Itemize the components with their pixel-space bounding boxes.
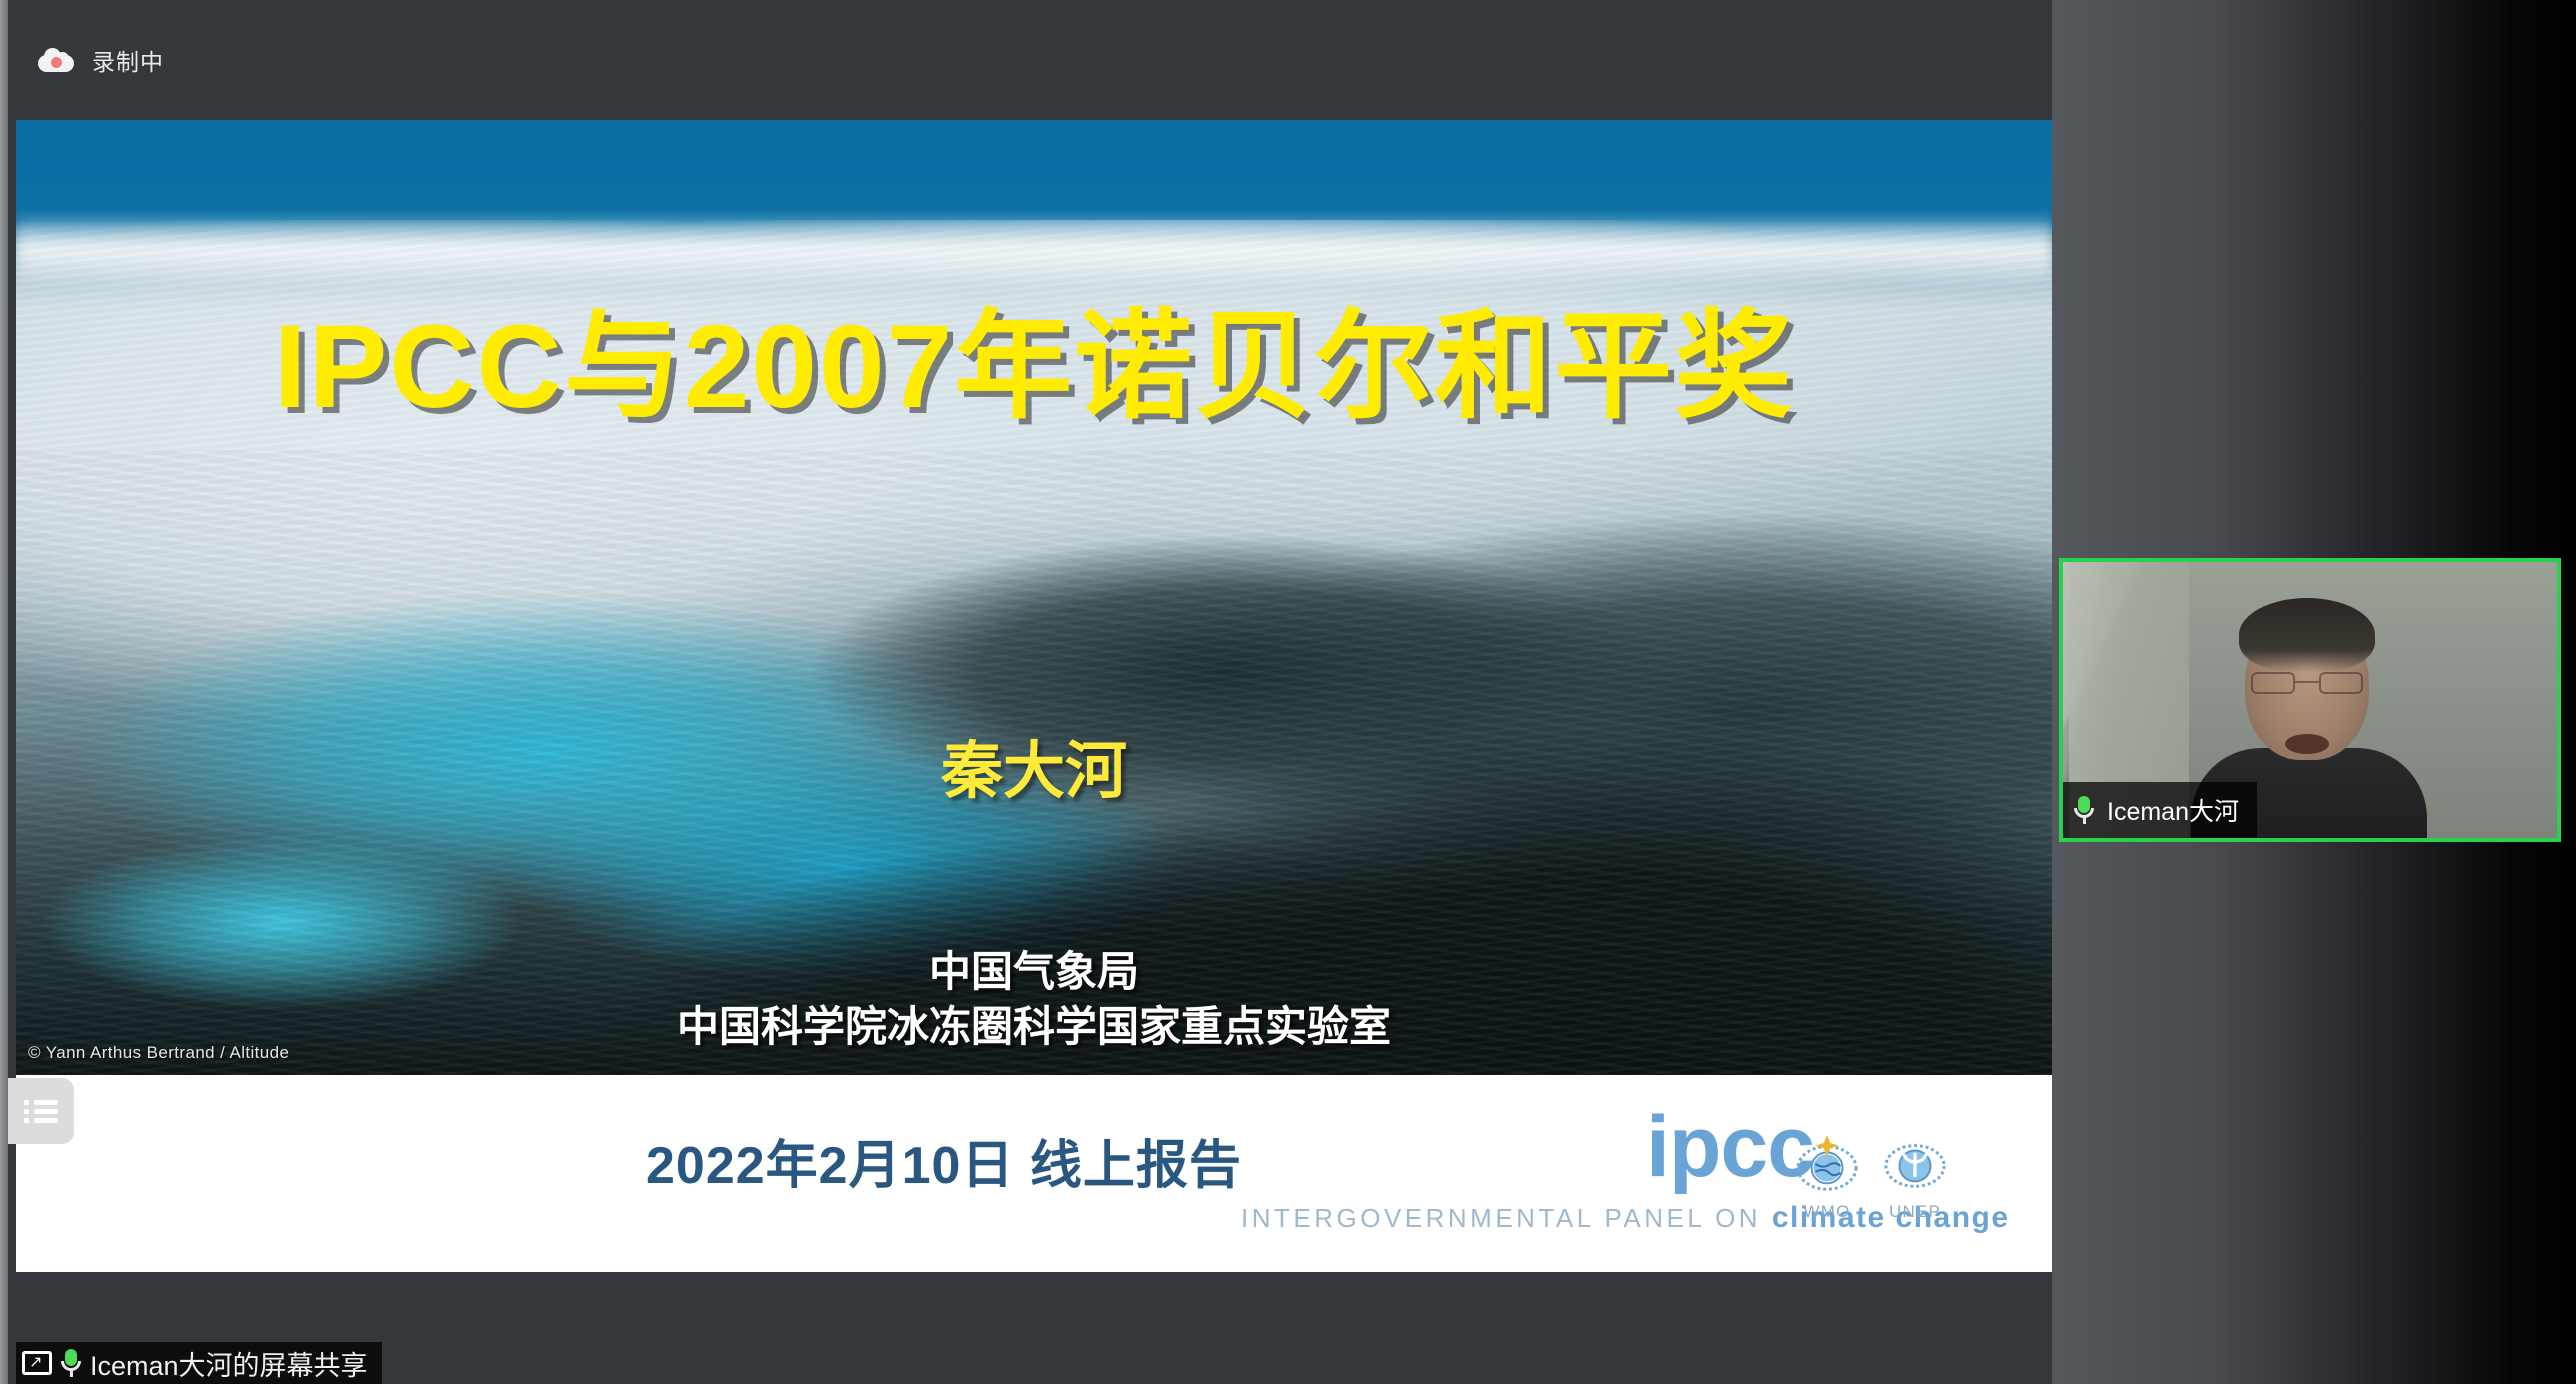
participant-video-tile[interactable]: Iceman大河 <box>2059 558 2561 842</box>
ipcc-logo: ipcc INTERGOVERNMENTAL PANEL ON climate … <box>1241 1097 1931 1247</box>
recording-label: 录制中 <box>92 43 164 77</box>
unep-logo: UNEP <box>1884 1133 1946 1222</box>
glacier-photo: IPCC与2007年诺贝尔和平奖 秦大河 中国气象局 中国科学院冰冻圈科学国家重… <box>16 120 2052 1075</box>
photo-credit: © Yann Arthus Bertrand / Altitude <box>28 1043 289 1063</box>
microphone-icon <box>60 1349 82 1377</box>
slide-footer-band: 2022年2月10日 线上报告 ipcc INTERGOVERNMENTAL P… <box>16 1075 2052 1272</box>
slide-title: IPCC与2007年诺贝尔和平奖 <box>16 270 2052 441</box>
cloud-recording-icon[interactable] <box>38 48 74 72</box>
unep-logo-icon <box>1884 1133 1946 1195</box>
participant-name-bar: Iceman大河 <box>2063 782 2257 838</box>
affiliation-line-2: 中国科学院冰冻圈科学国家重点实验室 <box>16 999 2052 1054</box>
slide-date-line: 2022年2月10日 线上报告 <box>646 1123 1242 1198</box>
participants-panel: Iceman大河 <box>2052 0 2576 1384</box>
affiliation-line-1: 中国气象局 <box>16 944 2052 999</box>
left-edge-rail <box>0 0 8 1384</box>
sky-band <box>16 120 2052 220</box>
recording-status-bar: 录制中 <box>8 0 2052 120</box>
slide-author: 秦大河 <box>16 720 2052 810</box>
shared-screen-stage: 录制中 IPCC与2007年诺贝尔和平奖 秦大河 中国气象局 中国科学院冰冻圈科… <box>8 0 2052 1384</box>
screen-share-icon: ↗ <box>22 1351 52 1375</box>
outline-list-button[interactable] <box>8 1078 74 1144</box>
participant-name: Iceman大河 <box>2107 792 2239 828</box>
wmo-logo: WMO <box>1796 1133 1858 1222</box>
participant-hair <box>2239 598 2375 672</box>
partner-org-logos: WMO UNEP <box>1796 1133 1946 1222</box>
presentation-slide[interactable]: IPCC与2007年诺贝尔和平奖 秦大河 中国气象局 中国科学院冰冻圈科学国家重… <box>16 120 2052 1272</box>
outline-list-icon <box>24 1096 58 1127</box>
wmo-logo-icon <box>1796 1133 1858 1195</box>
participant-glasses <box>2251 672 2363 694</box>
slide-affiliation: 中国气象局 中国科学院冰冻圈科学国家重点实验室 <box>16 944 2052 1055</box>
ipcc-tagline-prefix: INTERGOVERNMENTAL PANEL ON <box>1241 1203 1761 1233</box>
zoom-meeting-window: 录制中 IPCC与2007年诺贝尔和平奖 秦大河 中国气象局 中国科学院冰冻圈科… <box>0 0 2576 1384</box>
ipcc-wordmark: ipcc <box>1646 1107 1814 1189</box>
participant-mouth <box>2285 734 2329 754</box>
screen-share-label: Iceman大河的屏幕共享 <box>90 1344 368 1383</box>
microphone-icon[interactable] <box>2073 796 2095 824</box>
wmo-caption: WMO <box>1796 1202 1858 1222</box>
screen-share-banner[interactable]: ↗ Iceman大河的屏幕共享 <box>16 1342 382 1384</box>
unep-caption: UNEP <box>1884 1202 1946 1222</box>
